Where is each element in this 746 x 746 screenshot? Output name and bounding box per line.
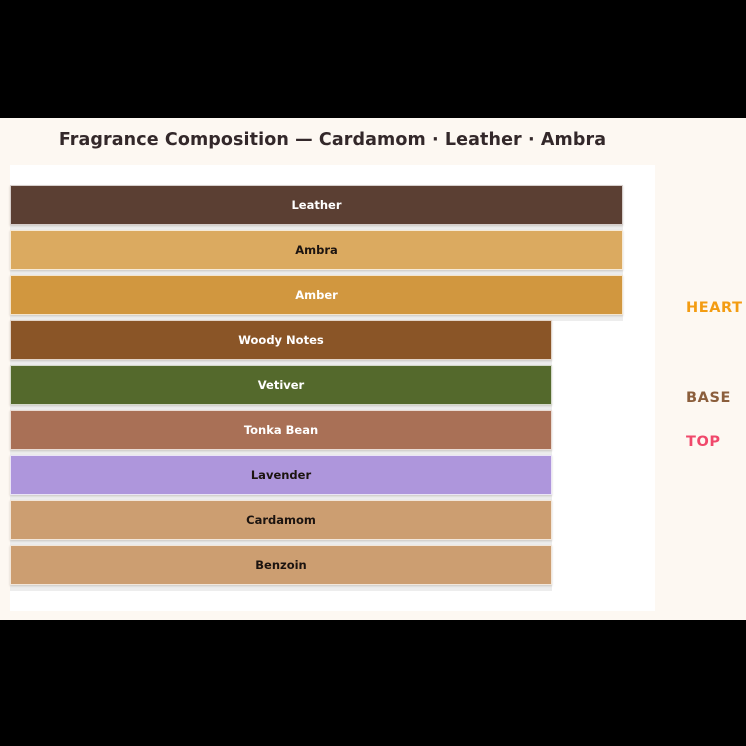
bar-tonka-bean[interactable]: [10, 410, 552, 450]
stage-label-base: BASE: [686, 390, 731, 406]
bar-series: LeatherAmbraAmberWoody NotesVetiverTonka…: [10, 165, 655, 611]
bar-row: Cardamom: [10, 500, 655, 540]
bar-woody-notes[interactable]: [10, 320, 552, 360]
bar-benzoin[interactable]: [10, 545, 552, 585]
bar-amber[interactable]: [10, 275, 623, 315]
stage-label-top: TOP: [686, 434, 721, 450]
bar-leather[interactable]: [10, 185, 623, 225]
bar-row: Amber: [10, 275, 655, 315]
screenshot-root: Fragrance Composition — Cardamom · Leath…: [0, 0, 746, 746]
bar-row: Leather: [10, 185, 655, 225]
bar-shadow-strip: [10, 584, 552, 591]
chart-title: Fragrance Composition — Cardamom · Leath…: [0, 130, 665, 150]
bar-ambra[interactable]: [10, 230, 623, 270]
bar-row: Benzoin: [10, 545, 655, 585]
plot-area: LeatherAmbraAmberWoody NotesVetiverTonka…: [10, 165, 655, 611]
bar-row: Tonka Bean: [10, 410, 655, 450]
bar-row: Ambra: [10, 230, 655, 270]
bar-row: Lavender: [10, 455, 655, 495]
chart-figure: Fragrance Composition — Cardamom · Leath…: [0, 118, 746, 620]
bar-row: Woody Notes: [10, 320, 655, 360]
bar-row: Vetiver: [10, 365, 655, 405]
stage-label-heart: HEART: [686, 300, 743, 316]
bar-lavender[interactable]: [10, 455, 552, 495]
bar-vetiver[interactable]: [10, 365, 552, 405]
bar-cardamom[interactable]: [10, 500, 552, 540]
